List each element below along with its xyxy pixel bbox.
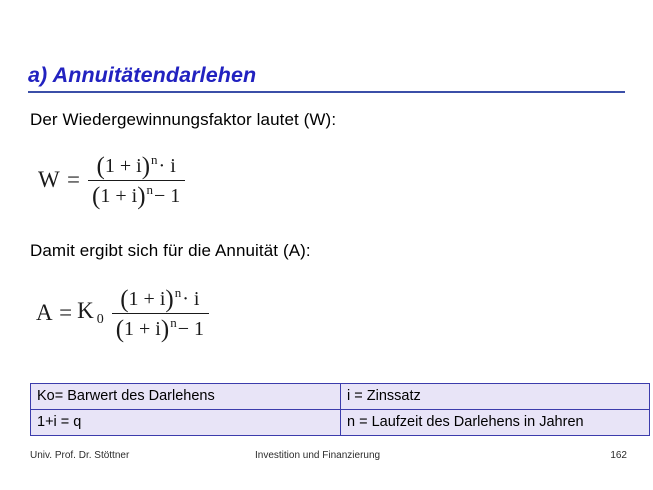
formula-w-denominator: (1 + i)n− 1	[88, 180, 185, 209]
formula-a-numerator: (1 + i)n· i	[116, 285, 204, 313]
formula-a-num-operator: · i	[181, 288, 200, 310]
paren-open-icon: (	[97, 153, 105, 180]
table-cell-q-definition: 1+i = q	[31, 410, 341, 436]
table-row: 1+i = q n = Laufzeit des Darlehens in Ja…	[31, 410, 650, 436]
formula-w-numerator: (1 + i)n· i	[93, 152, 181, 180]
formula-a-coefficient-symbol: K	[77, 298, 95, 323]
paren-open-icon: (	[116, 316, 124, 343]
formula-a-den-operator: − 1	[177, 318, 205, 340]
slide-canvas: a) Annuitätendarlehen Der Wiedergewinnun…	[0, 0, 653, 490]
formula-w-den-base: 1 + i	[100, 185, 137, 207]
formula-a-den-exponent: n	[169, 315, 177, 330]
table-cell-ko-definition: Ko= Barwert des Darlehens	[31, 384, 341, 410]
paren-close-icon: )	[142, 153, 150, 180]
formula-w-num-base: 1 + i	[105, 155, 142, 177]
legend-table: Ko= Barwert des Darlehens i = Zinssatz 1…	[30, 383, 650, 436]
formula-a-coefficient: K0	[77, 298, 109, 327]
table-cell-n-definition: n = Laufzeit des Darlehens in Jahren	[341, 410, 650, 436]
formula-w-den-operator: − 1	[153, 185, 181, 207]
formula-a-den-base: 1 + i	[124, 318, 161, 340]
formula-w-den-exponent: n	[146, 182, 154, 197]
formula-a-fraction: (1 + i)n· i (1 + i)n− 1	[112, 285, 209, 341]
formula-a-row: A = K0 (1 + i)n· i (1 + i)n− 1	[36, 285, 209, 341]
table-cell-i-definition: i = Zinssatz	[341, 384, 650, 410]
formula-a-num-base: 1 + i	[129, 288, 166, 310]
formula-w-num-operator: · i	[158, 155, 177, 177]
legend-table-body: Ko= Barwert des Darlehens i = Zinssatz 1…	[31, 384, 650, 436]
footer-author: Univ. Prof. Dr. Stöttner	[30, 450, 129, 461]
slide-footer: Univ. Prof. Dr. Stöttner Investition und…	[30, 450, 627, 464]
footer-course-title: Investition und Finanzierung	[255, 450, 380, 461]
intro-text-wiedergewinnungsfaktor: Der Wiedergewinnungsfaktor lautet (W):	[30, 110, 336, 130]
formula-w-lhs: W =	[38, 167, 85, 193]
footer-page-number: 162	[610, 450, 627, 461]
formula-w-num-exponent: n	[150, 152, 158, 167]
title-block: a) Annuitätendarlehen	[28, 62, 627, 93]
paren-close-icon: )	[165, 286, 173, 313]
formula-a-denominator: (1 + i)n− 1	[112, 313, 209, 342]
formula-w-fraction: (1 + i)n· i (1 + i)n− 1	[88, 152, 185, 208]
formula-a-coefficient-subscript: 0	[95, 312, 105, 327]
table-row: Ko= Barwert des Darlehens i = Zinssatz	[31, 384, 650, 410]
intro-text-annuitaet: Damit ergibt sich für die Annuität (A):	[30, 241, 311, 261]
formula-annuitaet: A = K0 (1 + i)n· i (1 + i)n− 1	[36, 285, 209, 341]
title-underline-rule	[28, 91, 625, 93]
paren-open-icon: (	[120, 286, 128, 313]
page-title: a) Annuitätendarlehen	[28, 62, 627, 88]
paren-close-icon: )	[161, 316, 169, 343]
formula-wiedergewinnungsfaktor: W = (1 + i)n· i (1 + i)n− 1	[38, 152, 185, 208]
paren-close-icon: )	[137, 183, 145, 210]
formula-w-row: W = (1 + i)n· i (1 + i)n− 1	[38, 152, 185, 208]
formula-a-lhs: A =	[36, 300, 77, 326]
